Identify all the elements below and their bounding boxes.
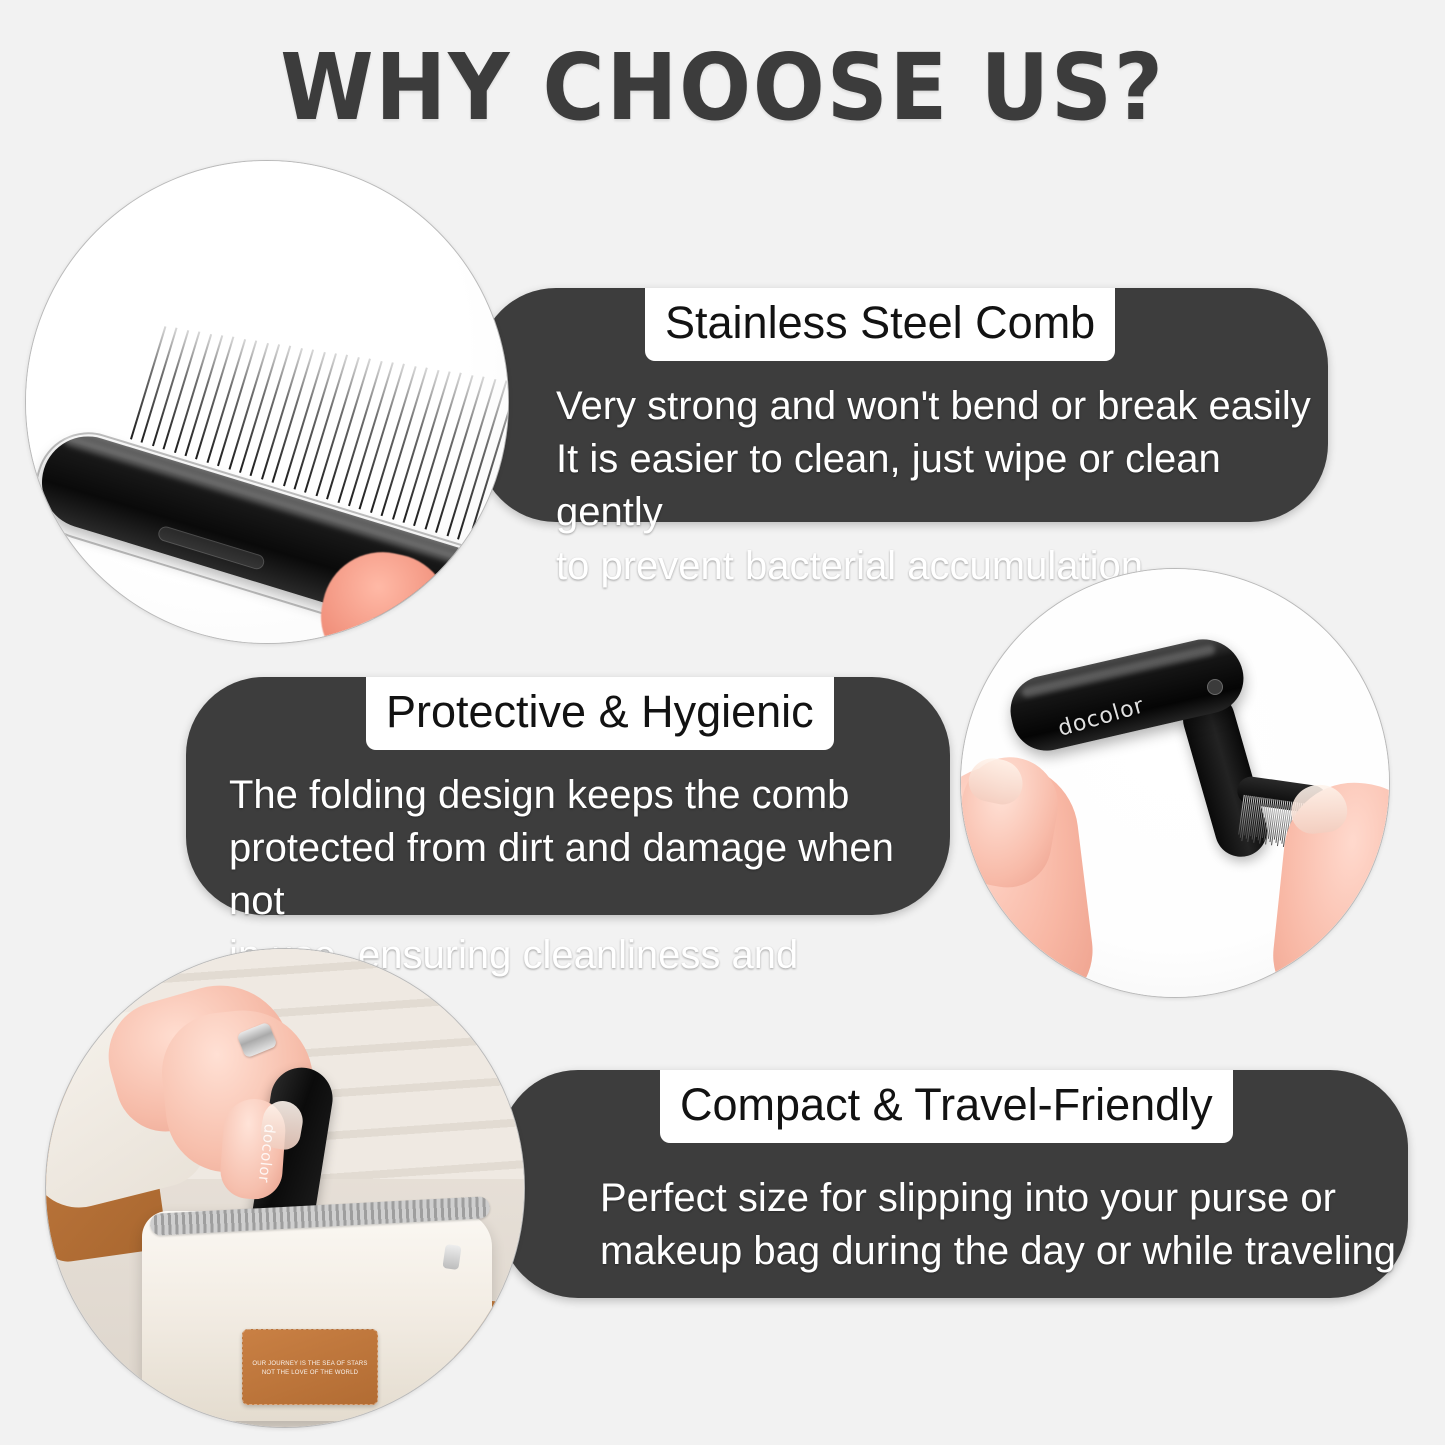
- feature-heading-compact-travel-friendly: Compact & Travel-Friendly: [660, 1070, 1233, 1143]
- feature-card-protective-hygienic: Protective & Hygienic The folding design…: [186, 677, 950, 915]
- feature-photo-stainless-steel-comb: [25, 160, 509, 644]
- comb-pivot-rivet: [1207, 679, 1223, 695]
- feature-card-compact-travel-friendly: Compact & Travel-Friendly Perfect size f…: [500, 1070, 1408, 1298]
- bag-leather-patch: OUR JOURNEY IS THE SEA OF STARS NOT THE …: [242, 1329, 378, 1405]
- feature-photo-compact-travel-friendly: docolor OUR JOURNEY IS THE SEA OF STARS …: [45, 948, 525, 1428]
- feature-body-compact-travel-friendly: Perfect size for slipping into your purs…: [600, 1172, 1396, 1278]
- bag-zipper-pull: [442, 1244, 461, 1270]
- bag-leather-patch-text: OUR JOURNEY IS THE SEA OF STARS NOT THE …: [243, 1360, 377, 1378]
- feature-heading-protective-hygienic: Protective & Hygienic: [366, 677, 834, 750]
- feature-photo-protective-hygienic: docolor: [960, 568, 1390, 998]
- feature-body-stainless-steel-comb: Very strong and won't bend or break easi…: [556, 380, 1328, 593]
- feature-heading-stainless-steel-comb: Stainless Steel Comb: [645, 288, 1115, 361]
- feature-card-stainless-steel-comb: Stainless Steel Comb Very strong and won…: [478, 288, 1328, 522]
- infographic-canvas: WHY CHOOSE US? Stainless Steel Comb Very…: [0, 0, 1445, 1445]
- page-title: WHY CHOOSE US?: [58, 34, 1387, 141]
